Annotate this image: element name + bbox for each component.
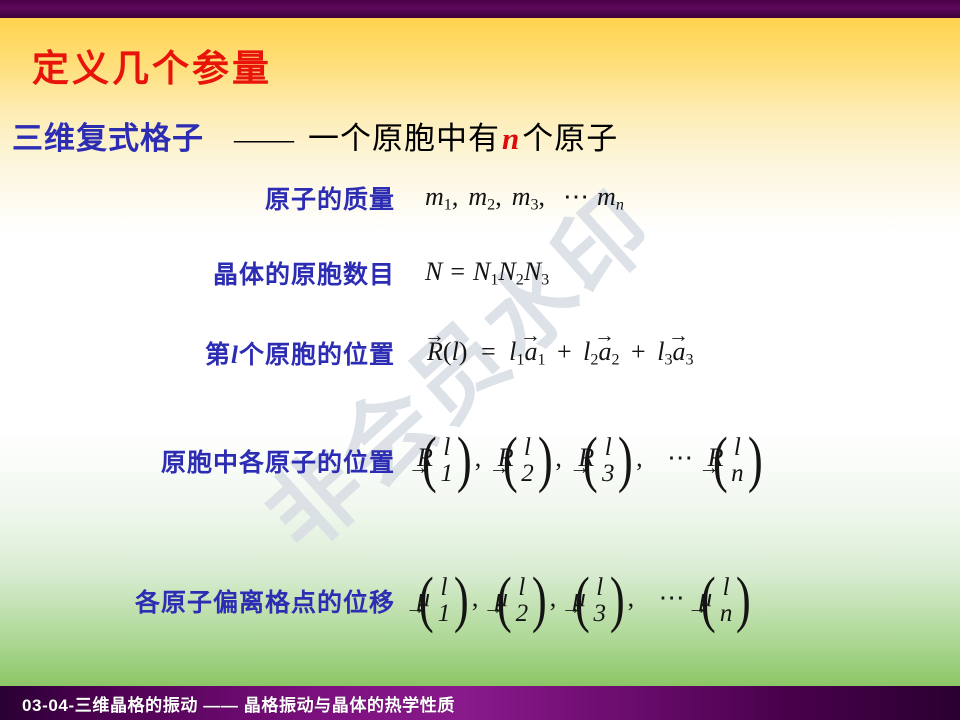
column-vector-3: (l3)	[580, 435, 636, 486]
lead-blue-text: 三维复式格子	[12, 113, 204, 158]
label-displacement: 各原子偏离格点的位移	[0, 583, 395, 619]
column-vector-2: (l2)	[500, 435, 556, 486]
lead-black-text: 一个原胞中有n个原子	[308, 113, 618, 158]
mu-column-vector-2: (l2)	[494, 575, 550, 626]
formula-displacement: μ→(l1), μ→(l2), μ→(l3), ⋯ μ→(ln)	[417, 575, 754, 626]
row-atom-mass: 原子的质量 m1,m2,m3,⋯mn	[0, 180, 960, 216]
label-cell-position: 第l个原胞的位置	[0, 335, 395, 371]
lead-line: 三维复式格子 —— 一个原胞中有n个原子	[12, 113, 618, 158]
lead-black-after: 个原子	[522, 121, 618, 156]
row-cell-count: 晶体的原胞数目 N=N1N2N3	[0, 255, 960, 291]
row-cell-position: 第l个原胞的位置 R→(l) = l1a→1 + l2a→2 + l3a→3	[0, 335, 960, 371]
label-atom-mass: 原子的质量	[0, 180, 395, 216]
lead-dash: ——	[234, 121, 292, 157]
column-vector-1: (l1)	[419, 435, 475, 486]
slide-content: 定义几个参量 三维复式格子 —— 一个原胞中有n个原子 原子的质量 m1,m2,…	[0, 0, 960, 720]
ellipsis-displacement: ⋯	[651, 583, 693, 612]
footer-text: 03-04-三维晶格的振动 —— 晶格振动与晶体的热学性质	[22, 691, 455, 716]
ellipsis-atom-position: ⋯	[659, 443, 701, 472]
label-atom-position: 原胞中各原子的位置	[0, 443, 395, 479]
row-displacement: 各原子偏离格点的位移 μ→(l1), μ→(l2), μ→(l3), ⋯ μ→(…	[0, 575, 960, 626]
label-cell-position-suffix: 个原胞的位置	[239, 342, 395, 369]
mu-column-vector-n: (ln)	[698, 575, 754, 626]
label-cell-position-prefix: 第	[205, 342, 231, 369]
formula-atom-mass: m1,m2,m3,⋯mn	[425, 182, 624, 215]
mu-column-vector-1: (l1)	[416, 575, 472, 626]
page-title: 定义几个参量	[32, 38, 272, 92]
formula-atom-position: R→(l1), R→(l2), R→(l3), ⋯ R→(ln)	[417, 435, 765, 486]
formula-cell-position: R→(l) = l1a→1 + l2a→2 + l3a→3	[427, 337, 694, 370]
label-cell-count: 晶体的原胞数目	[0, 255, 395, 291]
mu-column-vector-3: (l3)	[572, 575, 628, 626]
slide-canvas: 非会员水印 定义几个参量 三维复式格子 —— 一个原胞中有n个原子 原子的质量 …	[0, 0, 960, 720]
column-vector-n: (ln)	[710, 435, 766, 486]
lead-red-symbol: n	[500, 121, 522, 156]
formula-cell-count: N=N1N2N3	[425, 257, 549, 290]
lead-black-before: 一个原胞中有	[308, 121, 500, 156]
row-atom-position: 原胞中各原子的位置 R→(l1), R→(l2), R→(l3), ⋯ R→(l…	[0, 435, 960, 486]
label-cell-position-italic: l	[231, 342, 239, 369]
